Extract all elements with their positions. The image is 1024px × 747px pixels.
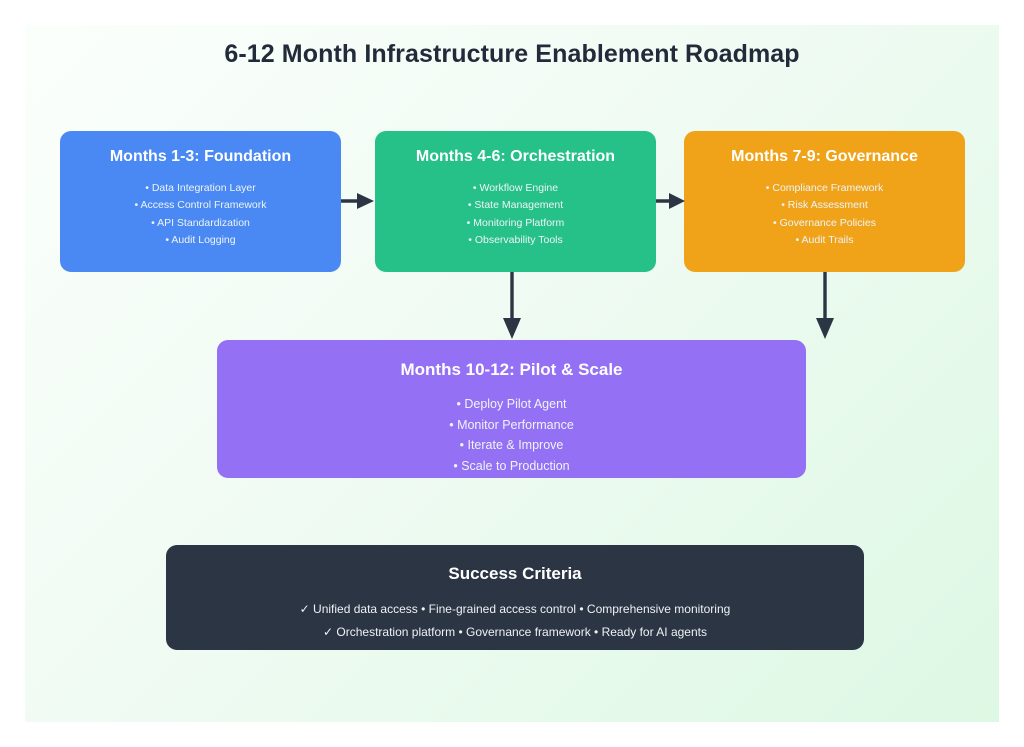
arrow-right-foundation-to-orchestration	[341, 190, 375, 212]
phase-item: • Iterate & Improve	[217, 435, 806, 456]
phase-item: • Monitor Performance	[217, 415, 806, 436]
phase-item: • Governance Policies	[684, 215, 965, 232]
phase-card-items: • Compliance Framework • Risk Assessment…	[684, 180, 965, 250]
phase-card-orchestration[interactable]: Months 4-6: Orchestration • Workflow Eng…	[375, 131, 656, 272]
phase-item: • Workflow Engine	[375, 180, 656, 197]
success-criteria-box: Success Criteria ✓ Unified data access •…	[166, 545, 864, 650]
phase-item: • Observability Tools	[375, 232, 656, 249]
phase-card-title: Months 10-12: Pilot & Scale	[217, 360, 806, 380]
phase-card-items: • Data Integration Layer • Access Contro…	[60, 180, 341, 250]
phase-item: • Data Integration Layer	[60, 180, 341, 197]
phase-card-title: Months 1-3: Foundation	[60, 147, 341, 167]
arrow-down-governance-to-pilot	[813, 272, 837, 340]
phase-item: • Audit Logging	[60, 232, 341, 249]
phase-item: • Scale to Production	[217, 456, 806, 477]
arrow-right-orchestration-to-governance	[656, 190, 686, 212]
phase-card-title: Months 4-6: Orchestration	[375, 147, 656, 167]
phase-card-title: Months 7-9: Governance	[684, 147, 965, 167]
phase-item: • Monitoring Platform	[375, 215, 656, 232]
phase-card-pilot-and-scale[interactable]: Months 10-12: Pilot & Scale • Deploy Pil…	[217, 340, 806, 478]
success-criteria-title: Success Criteria	[166, 564, 864, 584]
phase-item: • Compliance Framework	[684, 180, 965, 197]
phase-item: • Access Control Framework	[60, 197, 341, 214]
phase-item: • Audit Trails	[684, 232, 965, 249]
phase-card-items: • Deploy Pilot Agent • Monitor Performan…	[217, 394, 806, 476]
phase-card-governance[interactable]: Months 7-9: Governance • Compliance Fram…	[684, 131, 965, 272]
success-criteria-line: ✓ Orchestration platform • Governance fr…	[166, 621, 864, 644]
phase-item: • State Management	[375, 197, 656, 214]
phase-item: • Deploy Pilot Agent	[217, 394, 806, 415]
phase-card-foundation[interactable]: Months 1-3: Foundation • Data Integratio…	[60, 131, 341, 272]
page-title: 6-12 Month Infrastructure Enablement Roa…	[0, 40, 1024, 69]
phase-item: • Risk Assessment	[684, 197, 965, 214]
phase-card-items: • Workflow Engine • State Management • M…	[375, 180, 656, 250]
success-criteria-line: ✓ Unified data access • Fine-grained acc…	[166, 598, 864, 621]
diagram-canvas: 6-12 Month Infrastructure Enablement Roa…	[0, 0, 1024, 747]
phase-item: • API Standardization	[60, 215, 341, 232]
arrow-down-orchestration-to-pilot	[500, 272, 524, 340]
